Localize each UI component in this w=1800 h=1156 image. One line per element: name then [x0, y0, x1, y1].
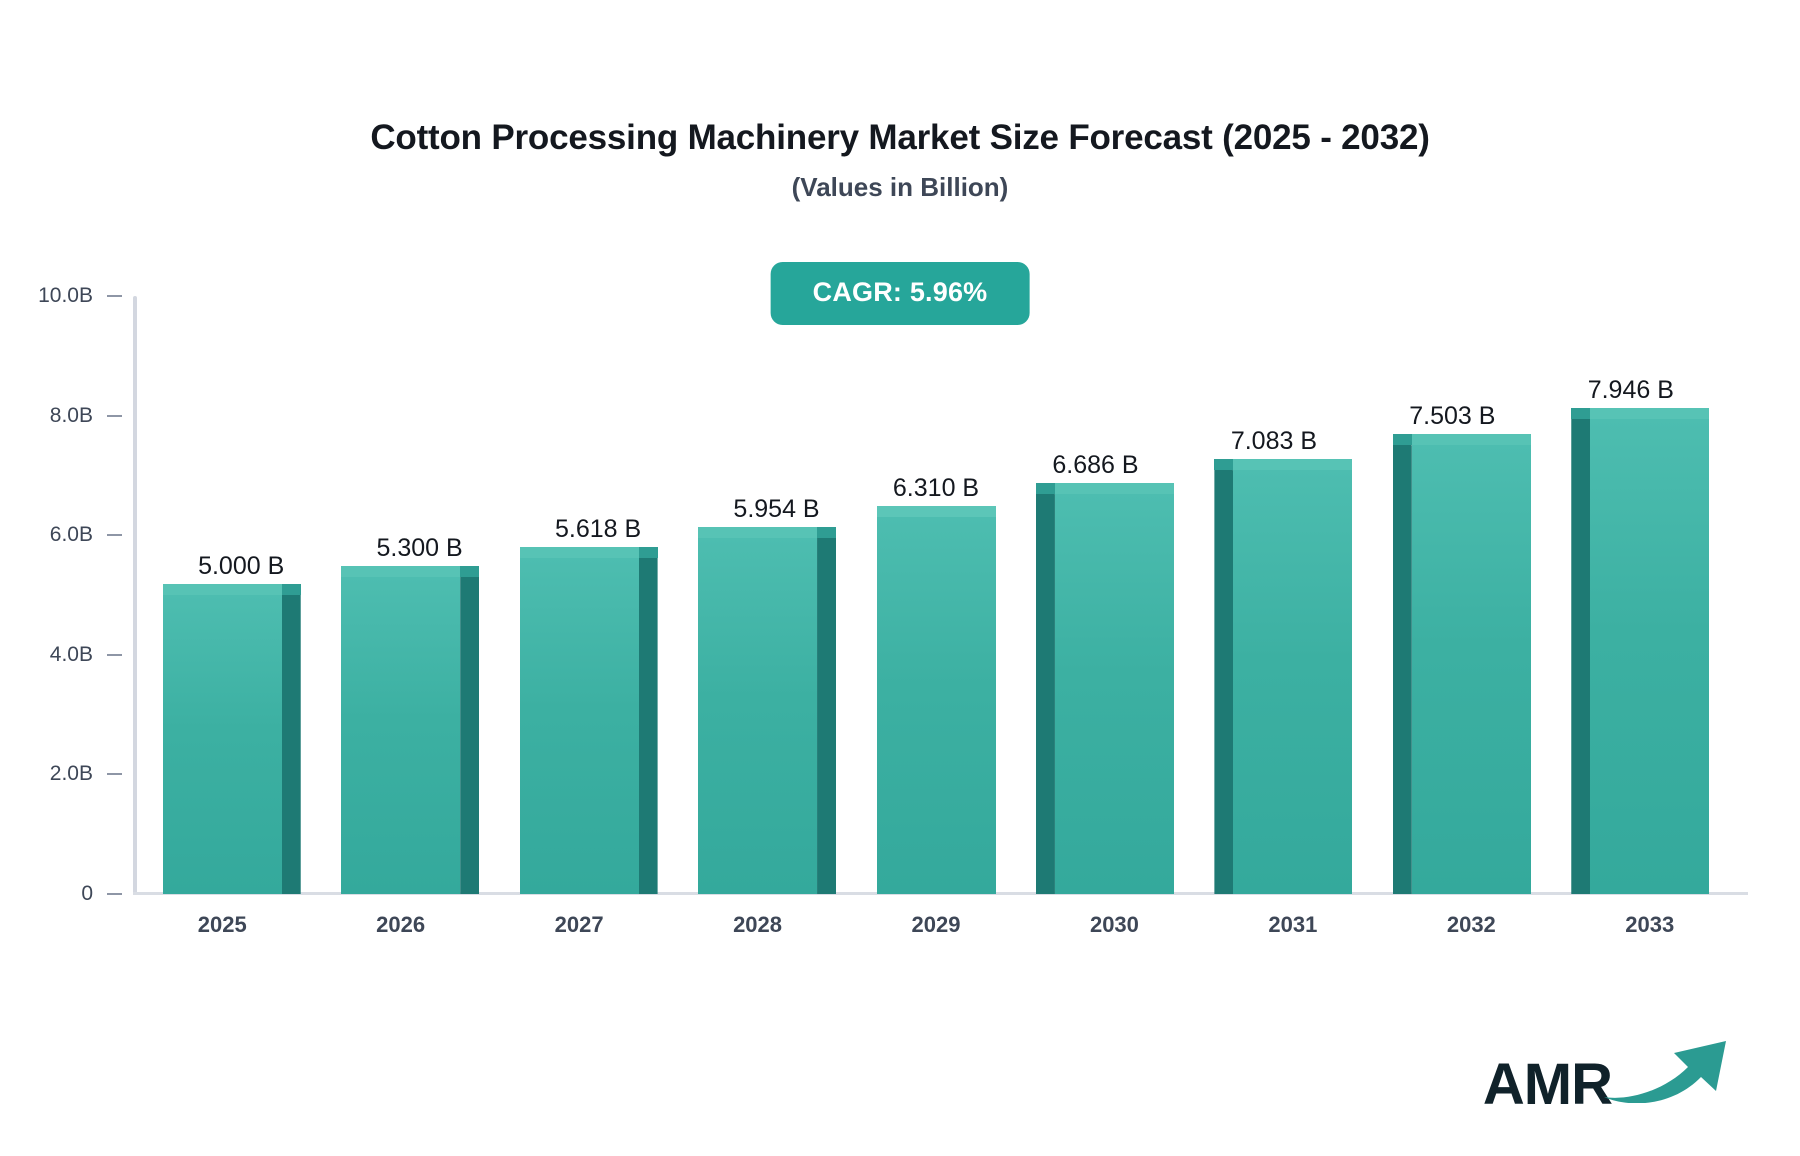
- bar-top-face: [1214, 459, 1352, 470]
- bar-top-face: [877, 506, 996, 517]
- bar-side-face: [460, 566, 479, 894]
- bar-top-face: [1036, 483, 1174, 494]
- bar-front-face: [1590, 419, 1709, 894]
- x-axis-label-2031: 2031: [1268, 912, 1317, 938]
- bar-side-face: [639, 547, 658, 894]
- bar-value-label: 5.618 B: [555, 515, 641, 544]
- bar-top-face: [1571, 408, 1709, 419]
- bar-value-label: 5.954 B: [733, 495, 819, 524]
- y-axis-tick-mark: [107, 654, 122, 656]
- amr-logo-text: AMR: [1483, 1056, 1612, 1114]
- y-axis-tick: 4.0B: [50, 643, 133, 667]
- bar-2027[interactable]: 5.618 B: [520, 558, 639, 894]
- bar-value-label: 5.300 B: [377, 534, 463, 563]
- x-axis-label-2028: 2028: [733, 912, 782, 938]
- bar-value-label: 6.310 B: [893, 474, 979, 503]
- bar-front-face: [341, 577, 460, 894]
- x-axis-label-2030: 2030: [1090, 912, 1139, 938]
- bar-front-face: [1233, 470, 1352, 894]
- plot-area: 02.0B4.0B6.0B8.0B10.0B 5.000 B5.300 B5.6…: [133, 296, 1739, 894]
- bar-2026[interactable]: 5.300 B: [341, 577, 460, 894]
- page-title: Cotton Processing Machinery Market Size …: [0, 118, 1800, 158]
- y-axis-tick-label: 4.0B: [50, 643, 93, 667]
- bar-2029[interactable]: 6.310 B: [877, 517, 996, 894]
- y-axis-tick-mark: [107, 534, 122, 536]
- y-axis-tick: 8.0B: [50, 404, 133, 428]
- bar-2033[interactable]: 7.946 B: [1590, 419, 1709, 894]
- bar-2031[interactable]: 7.083 B: [1233, 470, 1352, 894]
- bar-top-face: [163, 584, 301, 595]
- bar-side-face: [282, 584, 301, 894]
- y-axis-tick-label: 6.0B: [50, 523, 93, 547]
- y-axis-tick: 10.0B: [38, 284, 133, 308]
- bar-top-face: [520, 547, 658, 558]
- bar-front-face: [163, 595, 282, 894]
- x-axis-label-2026: 2026: [376, 912, 425, 938]
- bar-side-face: [1571, 408, 1590, 894]
- growth-arrow-icon: [1600, 1029, 1732, 1108]
- bar-2025[interactable]: 5.000 B: [163, 595, 282, 894]
- y-axis-tick: 2.0B: [50, 762, 133, 786]
- bar-top-face: [1393, 434, 1531, 445]
- bar-front-face: [877, 517, 996, 894]
- x-axis-label-2025: 2025: [198, 912, 247, 938]
- y-axis-tick-mark: [107, 295, 122, 297]
- bars-layer: 5.000 B5.300 B5.618 B5.954 B6.310 B6.686…: [133, 296, 1739, 894]
- y-axis-tick: 6.0B: [50, 523, 133, 547]
- amr-logo: AMR: [1483, 1029, 1732, 1114]
- y-axis-tick-mark: [107, 893, 122, 895]
- bar-front-face: [1412, 445, 1531, 894]
- y-axis-tick-mark: [107, 773, 122, 775]
- x-axis-label-2032: 2032: [1447, 912, 1496, 938]
- bar-front-face: [698, 538, 817, 894]
- y-axis-tick-mark: [107, 415, 122, 417]
- x-axis-label-2029: 2029: [912, 912, 961, 938]
- x-axis-label-2027: 2027: [555, 912, 604, 938]
- bar-side-face: [1393, 434, 1412, 894]
- bar-front-face: [1055, 494, 1174, 894]
- bar-2032[interactable]: 7.503 B: [1412, 445, 1531, 894]
- bar-top-face: [698, 527, 836, 538]
- chart-page: Cotton Processing Machinery Market Size …: [0, 0, 1800, 1156]
- y-axis-tick-label: 10.0B: [38, 284, 93, 308]
- x-axis-label-2033: 2033: [1625, 912, 1674, 938]
- bar-2028[interactable]: 5.954 B: [698, 538, 817, 894]
- bar-value-label: 7.503 B: [1409, 402, 1495, 431]
- bar-side-face: [817, 527, 836, 894]
- chart-subtitle: (Values in Billion): [0, 172, 1800, 203]
- bar-value-label: 5.000 B: [198, 552, 284, 581]
- y-axis-tick-label: 0: [81, 882, 93, 906]
- bar-side-face: [1036, 483, 1055, 894]
- bar-top-face: [341, 566, 479, 577]
- y-axis-tick: 0: [81, 882, 133, 906]
- bar-side-face: [1214, 459, 1233, 894]
- bar-2030[interactable]: 6.686 B: [1055, 494, 1174, 894]
- y-axis-tick-label: 8.0B: [50, 404, 93, 428]
- bar-value-label: 6.686 B: [1052, 451, 1138, 480]
- bar-front-face: [520, 558, 639, 894]
- y-axis-tick-label: 2.0B: [50, 762, 93, 786]
- bar-value-label: 7.083 B: [1231, 427, 1317, 456]
- bar-value-label: 7.946 B: [1588, 376, 1674, 405]
